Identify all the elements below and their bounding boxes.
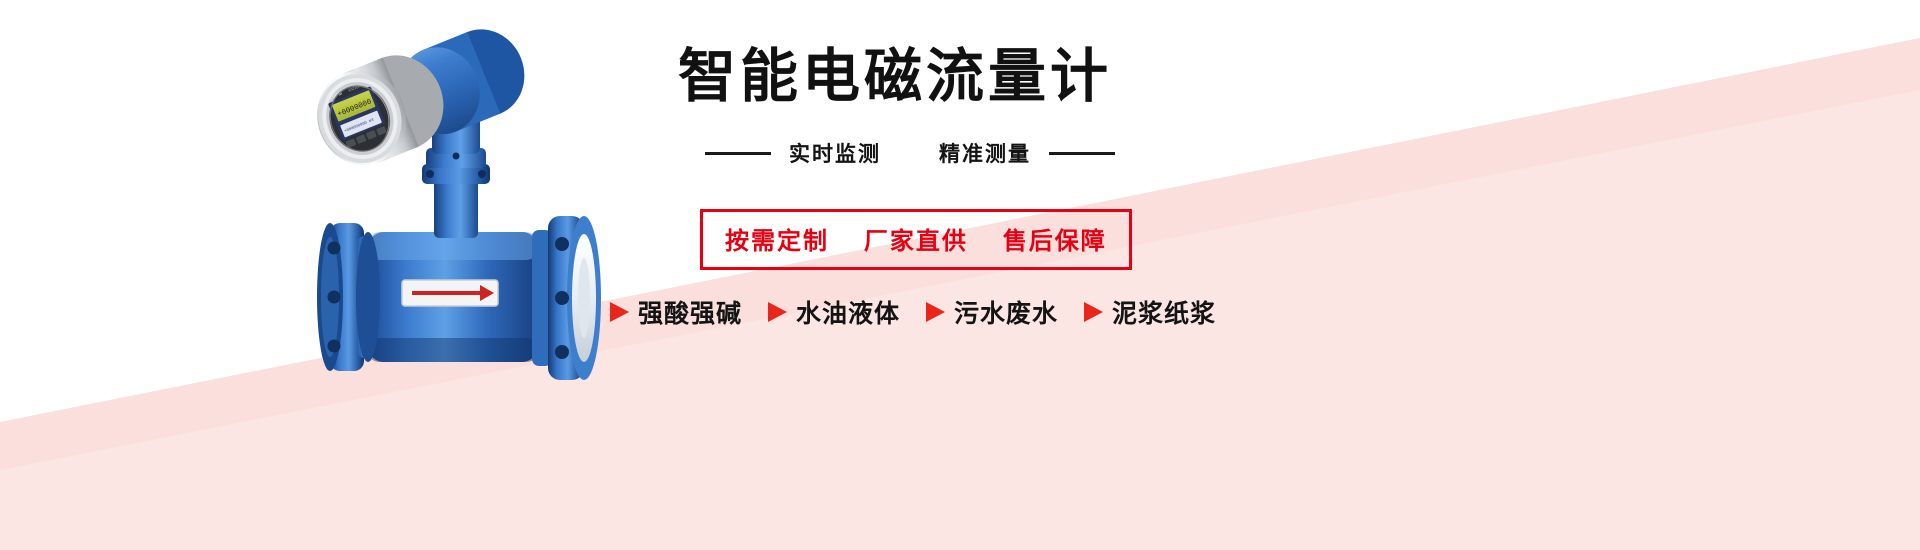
right-flange — [532, 216, 601, 380]
triangle-right-icon — [768, 302, 787, 322]
page-title: 智能电磁流量计 — [678, 48, 1112, 106]
feature-item-2: 污水废水 — [926, 294, 1058, 330]
triangle-right-icon — [926, 302, 945, 322]
feature-item-0: 强酸强碱 — [610, 294, 742, 330]
subtitle-row: 实时监测 精准测量 — [705, 138, 1115, 168]
feature-list: 强酸强碱 水油液体 污水废水 泥浆纸浆 — [610, 294, 1216, 330]
badge-item-2: 厂家直供 — [864, 228, 968, 255]
feature-item-1: 水油液体 — [768, 294, 900, 330]
feature-item-3: 泥浆纸浆 — [1084, 294, 1216, 330]
promo-banner: +0000000 FLOW m3/h +000000000 m3 LMFM E3… — [0, 0, 1920, 550]
feature-label-3: 泥浆纸浆 — [1112, 294, 1216, 330]
triangle-right-icon — [1084, 302, 1103, 322]
badge-item-3: 售后保障 — [1003, 228, 1107, 255]
flowmeter-body — [317, 216, 601, 380]
feature-label-2: 污水废水 — [954, 294, 1058, 330]
flow-direction-arrow-plate — [402, 280, 498, 306]
feature-label-0: 强酸强碱 — [638, 294, 742, 330]
neck-bolt — [453, 153, 460, 160]
banner-content: 智能电磁流量计 实时监测 精准测量 按需定制 厂家直供 售后保障 强酸强碱 水油… — [600, 0, 1300, 550]
subtitle-right: 精准测量 — [939, 138, 1031, 168]
flowmeter-converter-head: +0000000 FLOW m3/h +000000000 m3 LMFM E3… — [303, 10, 537, 179]
product-image-flowmeter: +0000000 FLOW m3/h +000000000 m3 LMFM E3… — [300, 8, 620, 398]
rule-right-icon — [1049, 152, 1115, 155]
rule-left-icon — [705, 152, 771, 155]
subtitle-left: 实时监测 — [789, 138, 881, 168]
guarantee-badge: 按需定制 厂家直供 售后保障 — [700, 209, 1132, 270]
badge-item-1: 按需定制 — [725, 228, 829, 255]
triangle-right-icon — [610, 302, 629, 322]
feature-label-1: 水油液体 — [796, 294, 900, 330]
